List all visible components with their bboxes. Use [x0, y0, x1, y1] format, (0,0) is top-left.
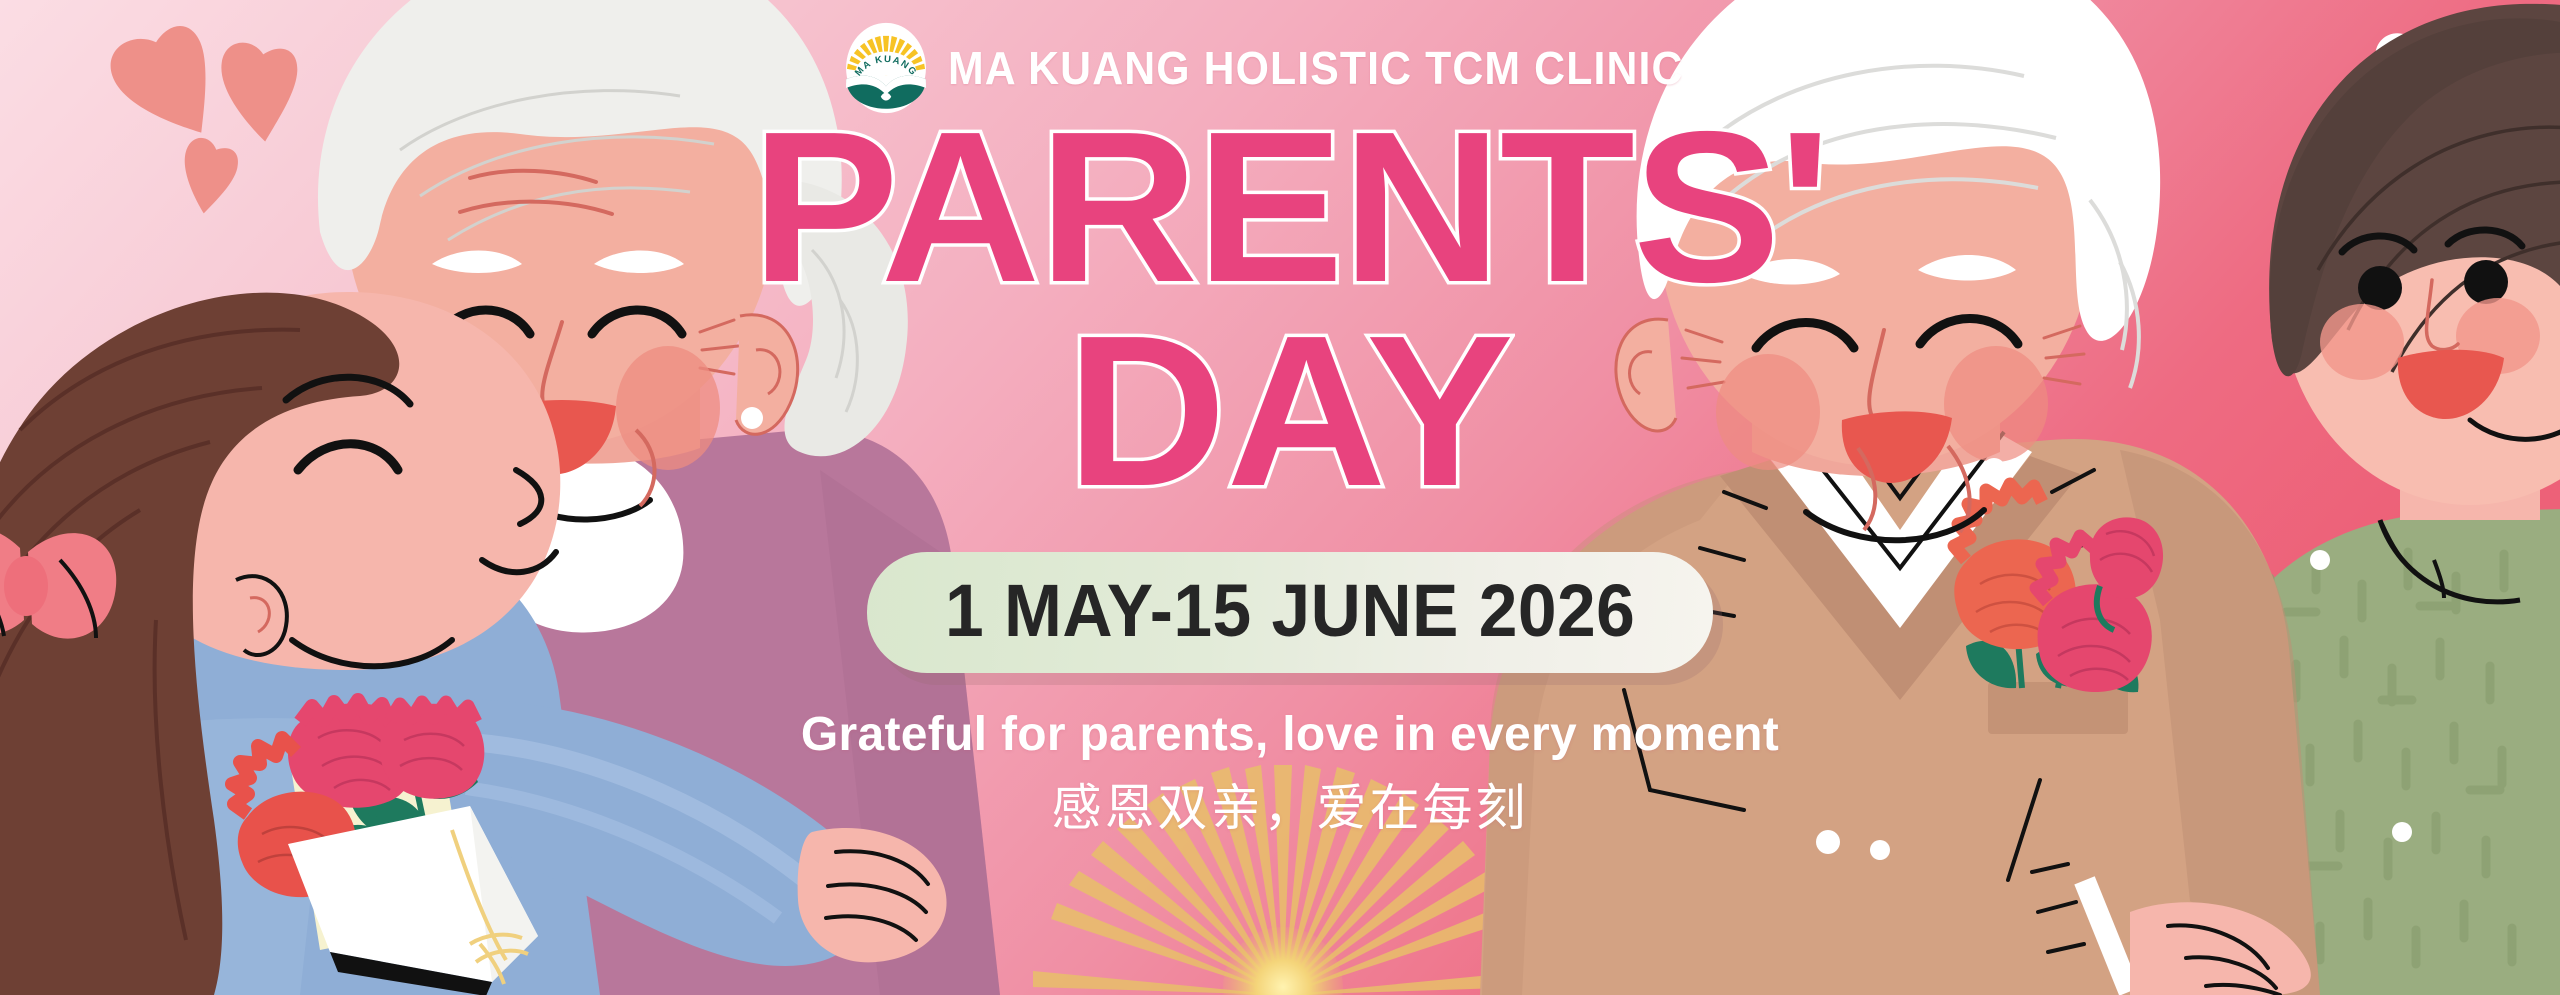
- date-range-text: 1 MAY-15 JUNE 2026: [945, 568, 1635, 653]
- woman-eye-left: [2358, 266, 2402, 310]
- grandmother-cheek-right: [616, 346, 720, 470]
- woman-eye-right: [2464, 260, 2508, 304]
- carnation-bloom: [380, 702, 485, 799]
- illustration-artwork: [0, 0, 2560, 995]
- date-badge[interactable]: 1 MAY-15 JUNE 2026: [867, 552, 1713, 673]
- parents-day-banner: MA KUANG MA KUANG HOLISTIC TCM CLINIC PA…: [0, 0, 2560, 995]
- earring: [741, 407, 763, 429]
